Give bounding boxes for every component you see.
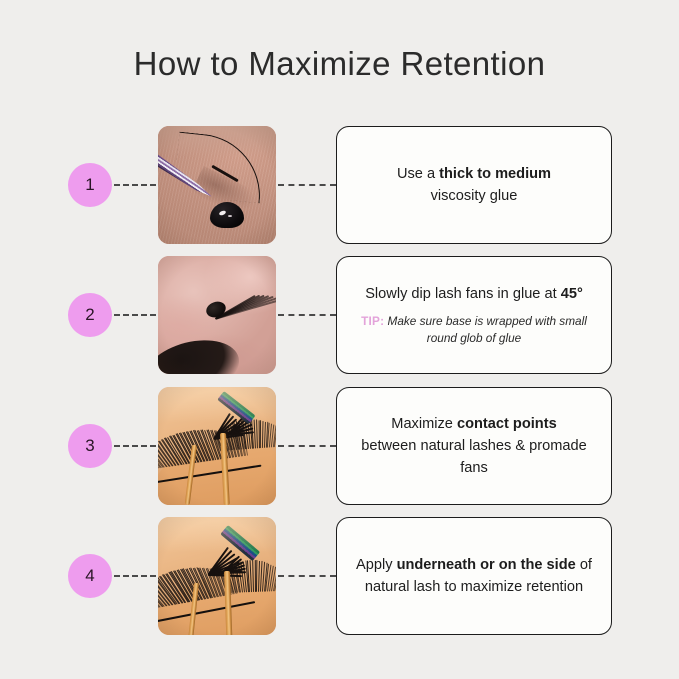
connector-dash-left (114, 314, 156, 316)
step-photo (158, 126, 276, 244)
step-text-before: Slowly dip lash fans in glue at (365, 286, 561, 302)
step-text-line2: viscosity glue (431, 188, 518, 204)
step-text-card: Use a thick to medium viscosity glue (336, 126, 612, 244)
step-number-badge: 1 (68, 163, 112, 207)
step-row: 3 Maximize contact points between natura… (0, 387, 679, 505)
connector-dash-left (114, 575, 156, 577)
connector-dash-right (278, 184, 336, 186)
step-number-badge: 2 (68, 293, 112, 337)
connector-dash-right (278, 575, 336, 577)
step-text-bold: contact points (457, 416, 557, 432)
step-photo (158, 256, 276, 374)
step-photo (158, 517, 276, 635)
step-text-bold: underneath or on the side (397, 557, 576, 573)
step-row: 2 Slowly dip lash fans in glue at 45° TI… (0, 256, 679, 374)
step-photo (158, 387, 276, 505)
step-text-line2: between natural lashes & promade fans (361, 438, 587, 476)
step-text-before: Apply (356, 557, 397, 573)
tip-text: Make sure base is wrapped with small rou… (388, 314, 587, 345)
step-text-card: Slowly dip lash fans in glue at 45° TIP:… (336, 256, 612, 374)
connector-dash-left (114, 445, 156, 447)
page-title: How to Maximize Retention (0, 45, 679, 83)
tip-label: TIP: (361, 314, 384, 328)
step-text: Slowly dip lash fans in glue at 45° (365, 283, 583, 305)
connector-dash-right (278, 314, 336, 316)
step-row: 4 Apply underneath or on the side of nat… (0, 517, 679, 635)
step-text-bold: 45° (561, 286, 583, 302)
step-text-bold: thick to medium (439, 166, 551, 182)
step-number-badge: 4 (68, 554, 112, 598)
step-number-badge: 3 (68, 424, 112, 468)
step-text-card: Maximize contact points between natural … (336, 387, 612, 505)
connector-dash-left (114, 184, 156, 186)
step-text: Use a thick to medium viscosity glue (397, 163, 551, 207)
step-text-card: Apply underneath or on the side of natur… (336, 517, 612, 635)
step-text-before: Use a (397, 166, 439, 182)
connector-dash-right (278, 445, 336, 447)
step-text-before: Maximize (391, 416, 457, 432)
step-text: Maximize contact points between natural … (353, 413, 595, 479)
step-row: 1 Use a thick to medium viscosity glue (0, 126, 679, 244)
step-tip: TIP: Make sure base is wrapped with smal… (353, 313, 595, 347)
step-text: Apply underneath or on the side of natur… (353, 554, 595, 598)
